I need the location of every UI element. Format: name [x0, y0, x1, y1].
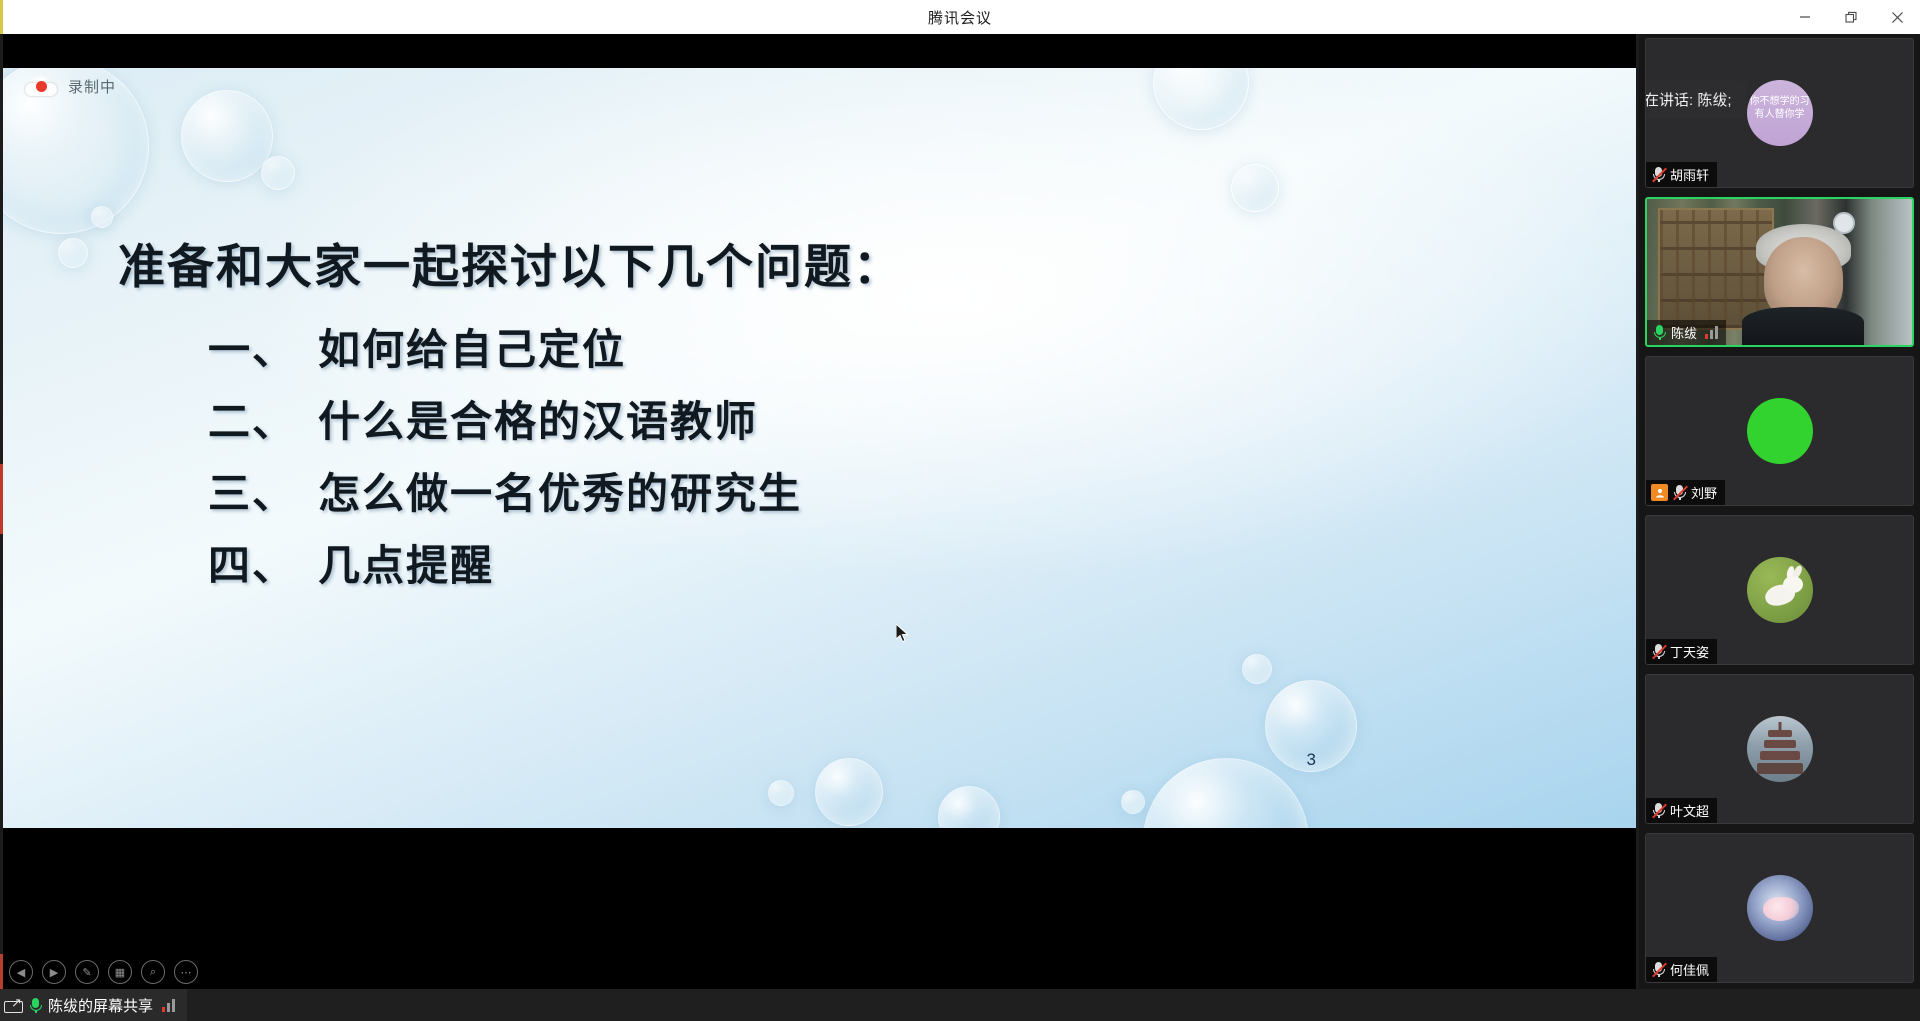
screen-share-icon: ↗: [4, 997, 23, 1013]
avatar: [1747, 716, 1813, 782]
participant-name: 叶文超: [1670, 801, 1709, 820]
slide-item-3-number: 三、: [208, 472, 296, 518]
slide-page-number: 3: [1307, 750, 1316, 770]
active-speaker-banner: 正在讲话: 陈绂;: [1645, 81, 1746, 118]
avatar: 你不想学的习有人替你学: [1747, 80, 1813, 146]
slide-item-3: 三、怎么做一名优秀的研究生: [208, 460, 802, 521]
mouse-cursor: [896, 624, 910, 644]
slide-item-1-text: 如何给自己定位: [318, 328, 626, 374]
mic-muted-icon: [1672, 484, 1687, 501]
participant-tile-hejiapei[interactable]: 何佳佩: [1645, 833, 1914, 983]
active-speaker-text: 正在讲话: 陈绂;: [1645, 89, 1732, 110]
slide-item-2: 二、什么是合格的汉语教师: [208, 388, 758, 449]
participant-tile-huyuxuan[interactable]: 你不想学的习有人替你学 胡雨轩 正在讲话: 陈绂;: [1645, 38, 1914, 188]
window-title-bar[interactable]: 腾讯会议: [0, 0, 1920, 34]
shared-screen-area[interactable]: 准备和大家一起探讨以下几个问题： 一、如何给自己定位 二、什么是合格的汉语教师 …: [3, 34, 1636, 989]
presentation-slide[interactable]: 准备和大家一起探讨以下几个问题： 一、如何给自己定位 二、什么是合格的汉语教师 …: [3, 68, 1636, 828]
mic-muted-icon: [1651, 166, 1666, 183]
signal-strength-icon: [162, 999, 175, 1012]
participant-label: 叶文超: [1646, 798, 1717, 823]
participant-label: 刘野: [1646, 480, 1725, 505]
zoom-icon[interactable]: ⌕: [141, 960, 165, 984]
slide-grid-icon[interactable]: ▦: [108, 960, 132, 984]
bottom-status-bar: ↗ 陈绂的屏幕共享: [0, 989, 1920, 1021]
mic-muted-icon: [1651, 643, 1666, 660]
participant-name: 何佳佩: [1670, 960, 1709, 979]
slide-item-4-number: 四、: [208, 544, 296, 590]
participant-label: 何佳佩: [1646, 957, 1717, 982]
recording-indicator[interactable]: 录制中: [25, 76, 116, 97]
window-controls: [1782, 0, 1920, 34]
participant-tile-chenfu[interactable]: 陈绂: [1645, 197, 1914, 347]
minimize-button[interactable]: [1782, 0, 1828, 34]
participant-name: 胡雨轩: [1670, 165, 1709, 184]
screen-share-label: 陈绂的屏幕共享: [48, 995, 153, 1016]
mic-on-icon: [28, 997, 43, 1014]
participant-label: 丁天姿: [1646, 639, 1717, 664]
slide-item-2-number: 二、: [208, 400, 296, 446]
window-title: 腾讯会议: [928, 7, 992, 28]
participant-tile-dingtianzi[interactable]: 丁天姿: [1645, 515, 1914, 665]
more-options-icon[interactable]: ⋯: [174, 960, 198, 984]
slide-item-1-number: 一、: [208, 328, 296, 374]
slide-item-4-text: 几点提醒: [318, 544, 494, 590]
slide-item-1: 一、如何给自己定位: [208, 316, 626, 377]
prev-slide-icon[interactable]: ◀: [9, 960, 33, 984]
close-button[interactable]: [1874, 0, 1920, 34]
avatar: [1747, 398, 1813, 464]
participant-label: 陈绂: [1647, 320, 1726, 345]
slide-item-4: 四、几点提醒: [208, 532, 494, 593]
participant-name: 丁天姿: [1670, 642, 1709, 661]
ppt-presenter-toolbar[interactable]: ◀ ▶ ✎ ▦ ⌕ ⋯: [9, 960, 198, 984]
restore-button[interactable]: [1828, 0, 1874, 34]
participant-name: 陈绂: [1671, 323, 1697, 342]
participant-tile-liuye[interactable]: 刘野: [1645, 356, 1914, 506]
recording-label: 录制中: [68, 76, 116, 97]
participant-name: 刘野: [1691, 483, 1717, 502]
window-edge-accent: [0, 0, 3, 34]
pen-icon[interactable]: ✎: [75, 960, 99, 984]
mic-on-icon: [1652, 324, 1667, 341]
cloud-record-icon: [25, 77, 57, 96]
host-badge-icon: [1651, 484, 1668, 501]
participant-sidebar[interactable]: 你不想学的习有人替你学 胡雨轩 正在讲话: 陈绂;: [1639, 34, 1920, 1021]
slide-item-3-text: 怎么做一名优秀的研究生: [318, 472, 802, 518]
mic-muted-icon: [1651, 961, 1666, 978]
avatar: [1747, 557, 1813, 623]
signal-strength-icon: [1705, 326, 1718, 339]
avatar: [1747, 875, 1813, 941]
avatar-text: 你不想学的习有人替你学: [1747, 95, 1813, 121]
meeting-window-body: 准备和大家一起探讨以下几个问题： 一、如何给自己定位 二、什么是合格的汉语教师 …: [0, 34, 1920, 1021]
slide-text-block: 准备和大家一起探讨以下几个问题： 一、如何给自己定位 二、什么是合格的汉语教师 …: [3, 68, 1636, 828]
slide-title: 准备和大家一起探讨以下几个问题：: [118, 228, 902, 297]
next-slide-icon[interactable]: ▶: [42, 960, 66, 984]
slide-item-2-text: 什么是合格的汉语教师: [318, 400, 758, 446]
mic-muted-icon: [1651, 802, 1666, 819]
participant-label: 胡雨轩: [1646, 162, 1717, 187]
screen-share-status[interactable]: ↗ 陈绂的屏幕共享: [0, 989, 187, 1021]
participant-tile-yewenchao[interactable]: 叶文超: [1645, 674, 1914, 824]
